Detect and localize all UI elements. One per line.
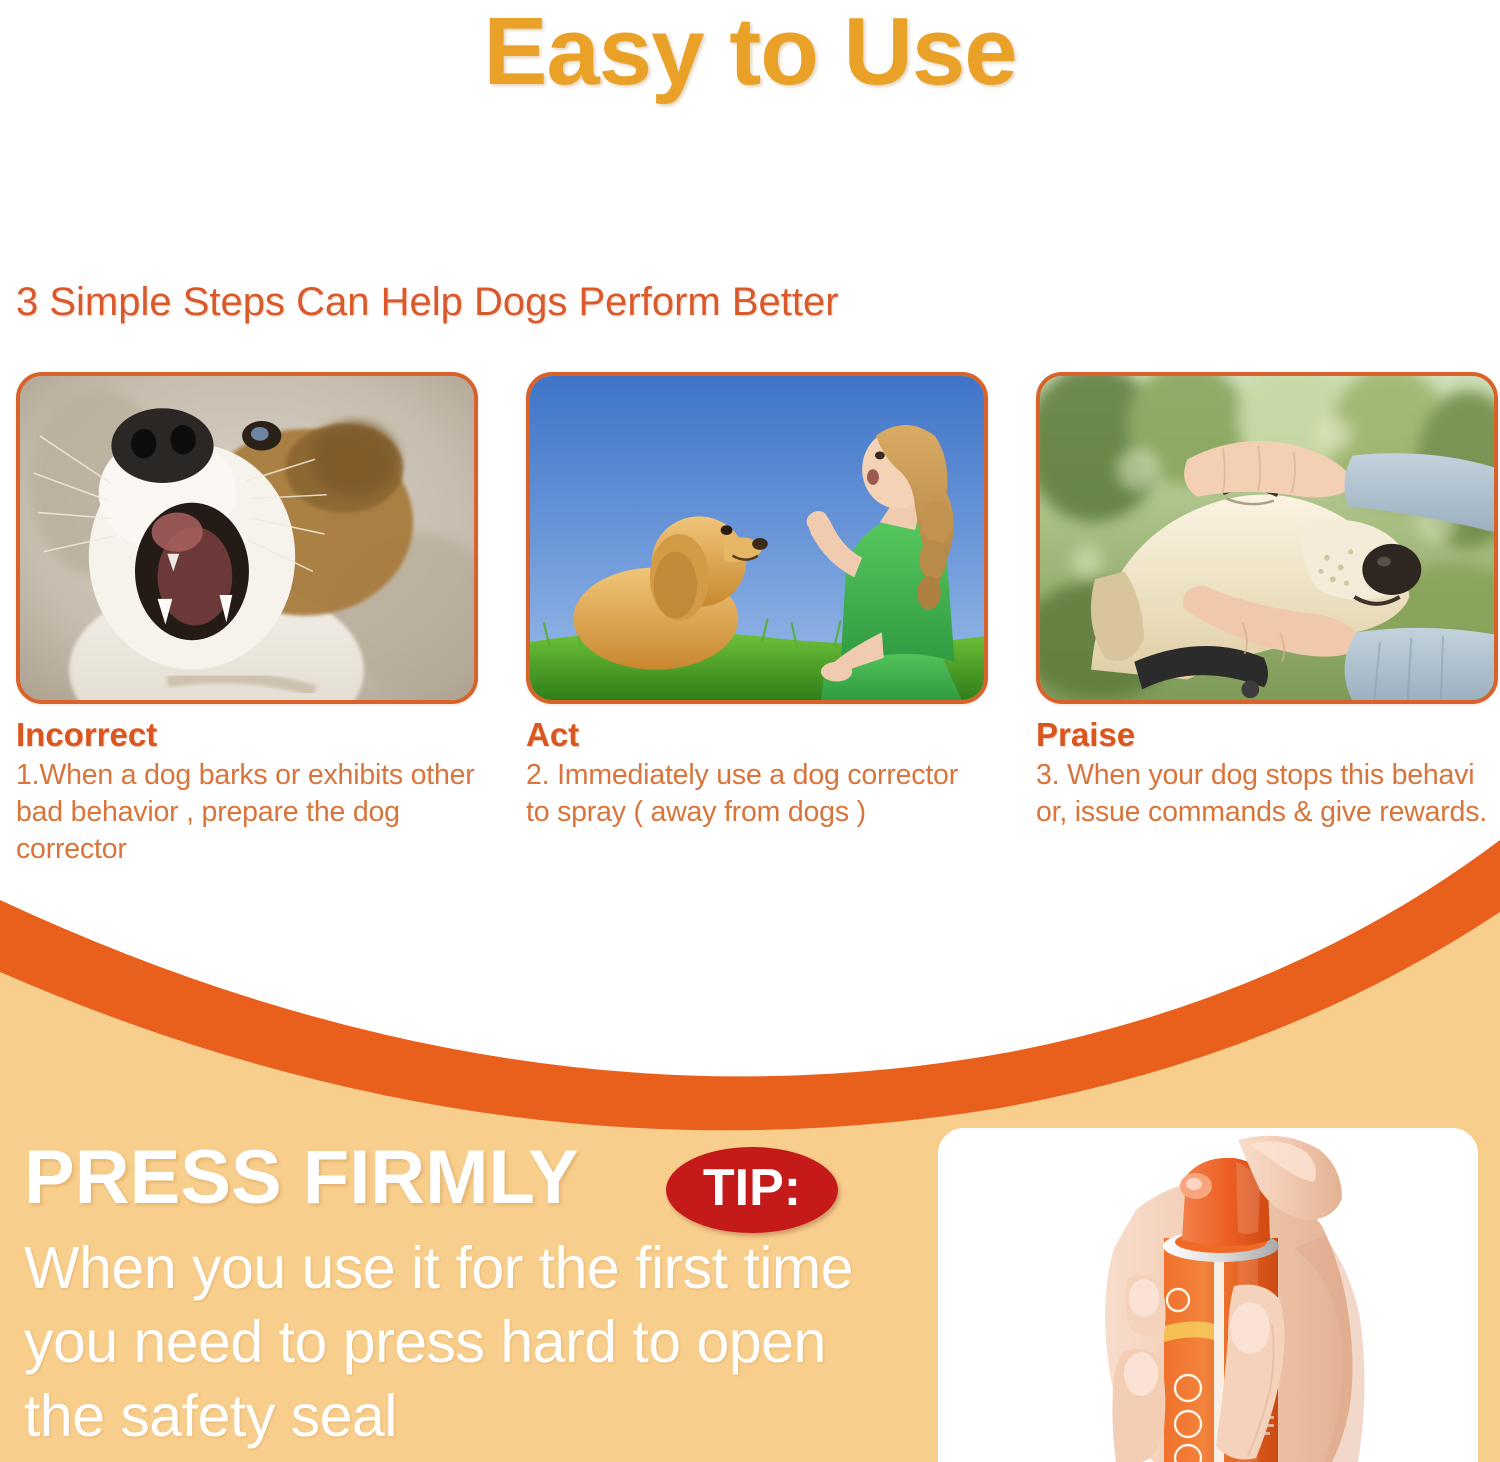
step-photo-petting-labrador bbox=[1036, 372, 1498, 704]
tip-badge-label: TIP: bbox=[703, 1162, 801, 1214]
press-firmly-body: When you use it for the first time you n… bbox=[24, 1232, 904, 1453]
step-card-praise: Praise 3. When your dog stops this behav… bbox=[1036, 372, 1498, 842]
product-photo-spray-can: Pet bbox=[938, 1128, 1478, 1462]
step-card-incorrect: Incorrect 1.When a dog barks or exhibits… bbox=[16, 372, 478, 842]
infographic-page: Easy to Use 3 Simple Steps Can Help Dogs… bbox=[0, 0, 1500, 1462]
tip-badge: TIP: bbox=[666, 1147, 838, 1233]
step-card-act: Act 2. Immediately use a dog corrector t… bbox=[526, 372, 988, 842]
step-card-body: 1.When a dog barks or exhibits other bad… bbox=[16, 757, 478, 868]
step-photo-barking-dog bbox=[16, 372, 478, 704]
step-card-body: 3. When your dog stops this behavi or, i… bbox=[1036, 757, 1498, 831]
steps-subtitle: 3 Simple Steps Can Help Dogs Perform Bet… bbox=[16, 280, 839, 325]
step-photo-training-dog bbox=[526, 372, 988, 704]
step-card-heading: Act bbox=[526, 716, 988, 754]
step-card-heading: Incorrect bbox=[16, 716, 478, 754]
page-title: Easy to Use bbox=[0, 2, 1500, 103]
steps-card-list: Incorrect 1.When a dog barks or exhibits… bbox=[16, 372, 1488, 842]
press-firmly-headline: PRESS FIRMLY bbox=[24, 1140, 579, 1216]
step-card-body: 2. Immediately use a dog corrector to sp… bbox=[526, 757, 988, 831]
step-card-heading: Praise bbox=[1036, 716, 1498, 754]
